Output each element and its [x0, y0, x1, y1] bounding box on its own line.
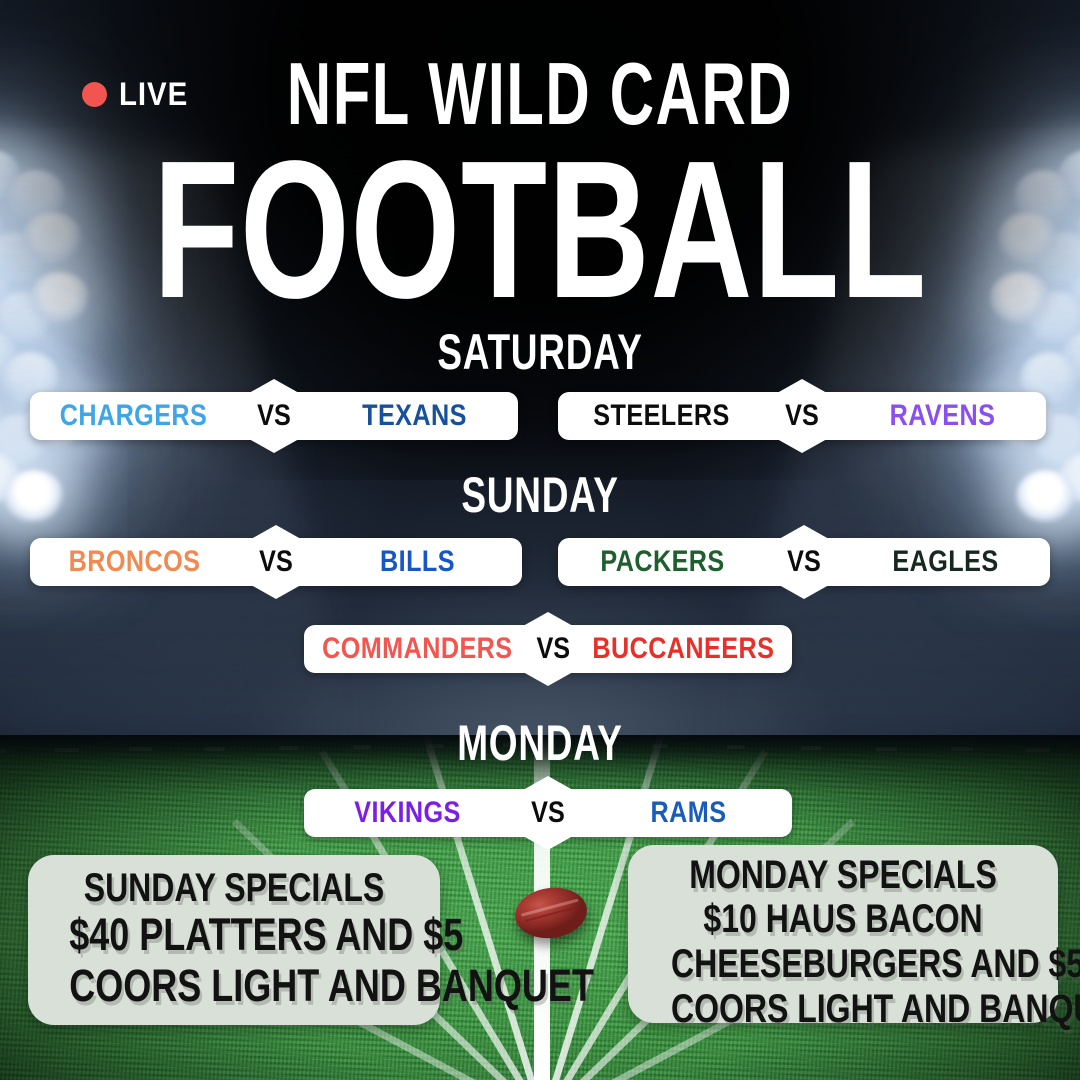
away-team-name[interactable]: STEELERS	[575, 399, 749, 433]
away-team-name[interactable]: COMMANDERS	[322, 632, 512, 666]
live-dot-icon	[82, 82, 107, 107]
vs-label: VS	[517, 796, 579, 830]
away-team-name[interactable]: CHARGERS	[47, 399, 221, 433]
vs-label: VS	[243, 399, 305, 433]
monday-specials-line3: COORS LIGHT AND BANQUET	[671, 987, 1015, 1032]
matchup-row[interactable]: BRONCOSVSBILLS	[30, 538, 522, 586]
home-team-name[interactable]: EAGLES	[858, 545, 1034, 579]
home-team-name[interactable]: RAMS	[602, 796, 776, 830]
sunday-specials-card: SUNDAY SPECIALS $40 PLATTERS AND $5 COOR…	[28, 855, 440, 1025]
home-team-name[interactable]: TEXANS	[328, 399, 502, 433]
vs-label: VS	[534, 632, 571, 666]
monday-specials-line2: CHEESEBURGERS AND $5	[671, 942, 1015, 987]
vs-label: VS	[773, 545, 835, 579]
page-title-line2: FOOTBALL	[151, 140, 929, 320]
away-team-name[interactable]: BRONCOS	[47, 545, 223, 579]
day-header-saturday: SATURDAY	[140, 327, 939, 377]
day-header-monday: MONDAY	[140, 718, 939, 768]
home-team-name[interactable]: BUCCANEERS	[593, 632, 775, 666]
away-team-name[interactable]: VIKINGS	[321, 796, 495, 830]
sunday-specials-line1: $40 PLATTERS AND $5	[69, 910, 399, 960]
matchup-row[interactable]: COMMANDERSVSBUCCANEERS	[304, 625, 792, 673]
home-team-name[interactable]: RAVENS	[856, 399, 1030, 433]
home-team-name[interactable]: BILLS	[330, 545, 506, 579]
sunday-specials-heading: SUNDAY SPECIALS	[69, 867, 399, 910]
away-team-name[interactable]: PACKERS	[575, 545, 751, 579]
vs-label: VS	[245, 545, 307, 579]
sunday-specials-line2: COORS LIGHT AND BANQUET	[69, 961, 399, 1011]
nfl-wild-card-poster: LIVE NFL WILD CARD FOOTBALL SATURDAY SUN…	[0, 0, 1080, 1080]
monday-specials-card: MONDAY SPECIALS $10 HAUS BACON CHEESEBUR…	[628, 845, 1058, 1023]
matchup-row[interactable]: VIKINGSVSRAMS	[304, 789, 792, 837]
monday-specials-heading: MONDAY SPECIALS	[671, 853, 1015, 897]
matchup-row[interactable]: CHARGERSVSTEXANS	[30, 392, 518, 440]
matchup-row[interactable]: PACKERSVSEAGLES	[558, 538, 1050, 586]
monday-specials-line1: $10 HAUS BACON	[671, 897, 1015, 942]
vs-label: VS	[771, 399, 833, 433]
day-header-sunday: SUNDAY	[140, 470, 939, 520]
matchup-row[interactable]: STEELERSVSRAVENS	[558, 392, 1046, 440]
